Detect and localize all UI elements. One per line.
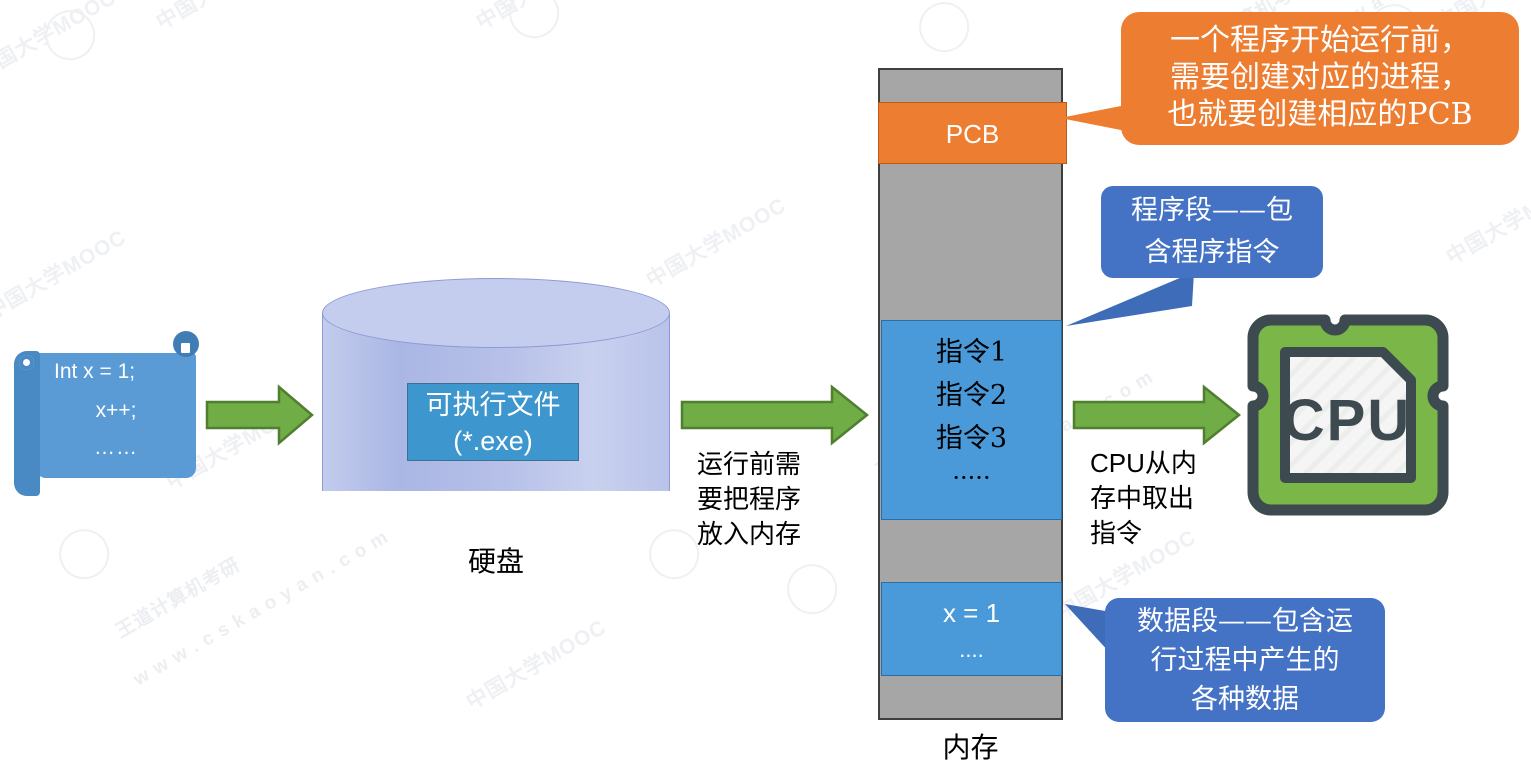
cpu-icon-text: CPU [1283, 388, 1411, 453]
callout-data-segment: 数据段——包含运 行过程中产生的 各种数据 [1105, 598, 1385, 722]
watermark-mooc: 中国大学MOOC [460, 611, 611, 716]
memory-segment-data: x = 1 .... [881, 582, 1062, 676]
hard-disk-label: 硬盘 [322, 540, 670, 580]
callout-pcb-tail [1060, 105, 1126, 131]
watermark-logo-circle [50, 520, 118, 588]
data-ellipsis: .... [882, 633, 1061, 667]
memory-label: 内存 [878, 726, 1063, 766]
code-ellipsis: ····· [882, 460, 1061, 496]
memory-segment-pcb: PCB [878, 102, 1067, 164]
executable-file-box: 可执行文件 (*.exe) [407, 383, 579, 461]
callout-data-line-3: 各种数据 [1105, 680, 1385, 719]
arrow-disk-to-memory [680, 384, 870, 446]
callout-code-tail [1066, 272, 1196, 330]
diagram-canvas: 中国大学MOOC 中国大学MOOC 中国大学MOOC 中国大学MOOC 中国大学… [0, 0, 1531, 770]
watermark-logo-circle [500, 0, 568, 47]
watermark-mooc: 中国大学MOOC [150, 0, 301, 36]
hard-disk-cylinder: 可执行文件 (*.exe) [322, 278, 670, 526]
watermark-mooc: 中国大学MOOC [0, 221, 131, 326]
callout-code-line-2: 含程序指令 [1101, 232, 1323, 274]
callout-data-line-1: 数据段——包含运 [1105, 602, 1385, 641]
label-load-to-memory: 运行前需 要把程序 放入内存 [697, 448, 801, 553]
watermark-mooc: 中国大学MOOC [0, 0, 121, 86]
callout-code-segment: 程序段——包 含程序指令 [1101, 186, 1323, 278]
callout-pcb: 一个程序开始运行前， 需要创建对应的进程， 也就要创建相应的PCB [1121, 12, 1519, 145]
code-line-1: Int x = 1; [36, 361, 196, 382]
cpu-chip-icon: CPU [1241, 308, 1455, 522]
scroll-right-roll [173, 331, 199, 357]
source-code-scroll: Int x = 1; x++; …… [14, 343, 196, 478]
callout-pcb-line-2: 需要创建对应的进程， [1121, 59, 1519, 96]
exe-line-2: (*.exe) [453, 426, 533, 456]
label-cpu-fetch: CPU从内 存中取出 指令 [1090, 446, 1197, 551]
callout-pcb-line-1: 一个程序开始运行前， [1121, 22, 1519, 59]
code-instruction-3: 指令3 [882, 417, 1061, 460]
callout-code-line-1: 程序段——包 [1101, 190, 1323, 232]
code-line-3: …… [36, 437, 196, 458]
watermark-logo-circle [778, 555, 846, 623]
code-instruction-2: 指令2 [882, 374, 1061, 417]
exe-line-1: 可执行文件 [426, 390, 561, 420]
memory-segment-code: 指令1 指令2 指令3 ····· [881, 320, 1062, 520]
memory-column: PCB 指令1 指令2 指令3 ····· x = 1 .... [878, 68, 1063, 720]
callout-data-line-2: 行过程中产生的 [1105, 641, 1385, 680]
arrow-code-to-disk [205, 384, 315, 446]
watermark-mooc: 中国大学MOOC [1440, 166, 1531, 271]
watermark-logo-circle [36, 1, 104, 69]
watermark-mooc: 中国大学MOOC [470, 0, 621, 36]
arrow-memory-to-cpu [1072, 384, 1242, 446]
code-instruction-1: 指令1 [882, 331, 1061, 374]
scroll-code-text: Int x = 1; x++; …… [36, 361, 196, 458]
watermark-wangdao: 王道计算机考研 [110, 550, 245, 643]
cylinder-top [322, 278, 670, 348]
watermark-logo-circle [910, 0, 978, 61]
callout-pcb-line-3: 也就要创建相应的PCB [1121, 96, 1519, 133]
code-line-2: x++; [36, 400, 196, 421]
data-value-x: x = 1 [882, 593, 1061, 633]
pcb-label: PCB [946, 119, 999, 149]
